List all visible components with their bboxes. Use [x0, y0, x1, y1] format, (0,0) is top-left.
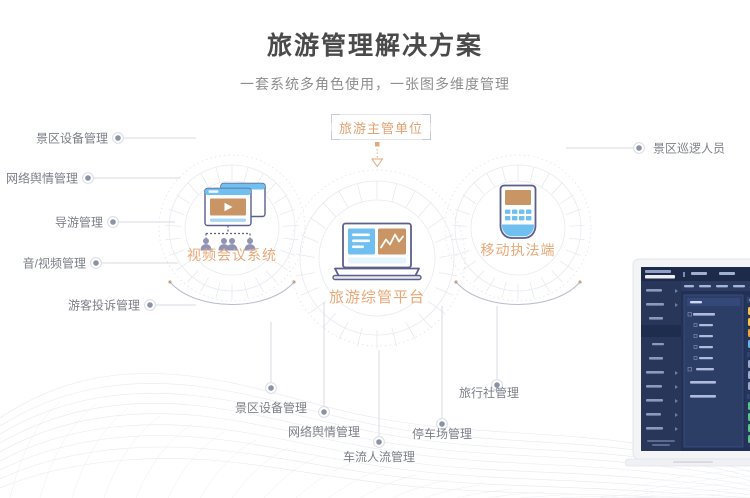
- laptop-dashboard-icon: [331, 220, 423, 291]
- box-edge-left: [331, 123, 332, 131]
- leaf-label-bottom-2: 车流人流管理: [343, 448, 415, 465]
- leaf-label-left-2: 导游管理: [55, 214, 103, 231]
- corner-bracket-top-left: [331, 114, 341, 124]
- box-edge-bottom: [340, 139, 422, 140]
- leaf-label-bottom-1: 网络舆情管理: [288, 423, 360, 440]
- node-label-mobile-enforcement: 移动执法端: [481, 240, 556, 260]
- infographic-canvas: 旅游管理解决方案 一套系统多角色使用，一张图多维度管理: [0, 0, 750, 498]
- leaf-label-right-0: 景区巡逻人员: [653, 140, 725, 157]
- leaf-label-left-3: 音/视频管理: [23, 255, 86, 272]
- node-label-video-conference: 视频会议系统: [187, 245, 277, 265]
- leaf-label-bottom-3: 停车场管理: [412, 425, 472, 442]
- admin-dashboard-laptop-mockup: [625, 255, 750, 490]
- box-edge-right: [430, 123, 431, 131]
- leaf-label-left-1: 网络舆情管理: [6, 170, 78, 187]
- mobile-device-icon: [496, 184, 540, 247]
- leaf-label-left-0: 景区设备管理: [36, 130, 108, 147]
- corner-bracket-bottom-right: [421, 130, 431, 140]
- leaf-label-bottom-0: 景区设备管理: [235, 399, 307, 416]
- leaf-label-left-4: 游客投诉管理: [68, 297, 140, 314]
- authority-box: 旅游主管单位: [331, 114, 431, 140]
- authority-label: 旅游主管单位: [339, 118, 423, 137]
- leaf-label-bottom-4: 旅行社管理: [459, 384, 519, 401]
- box-edge-top: [340, 114, 422, 115]
- node-label-tourism-platform: 旅游综管平台: [329, 286, 425, 307]
